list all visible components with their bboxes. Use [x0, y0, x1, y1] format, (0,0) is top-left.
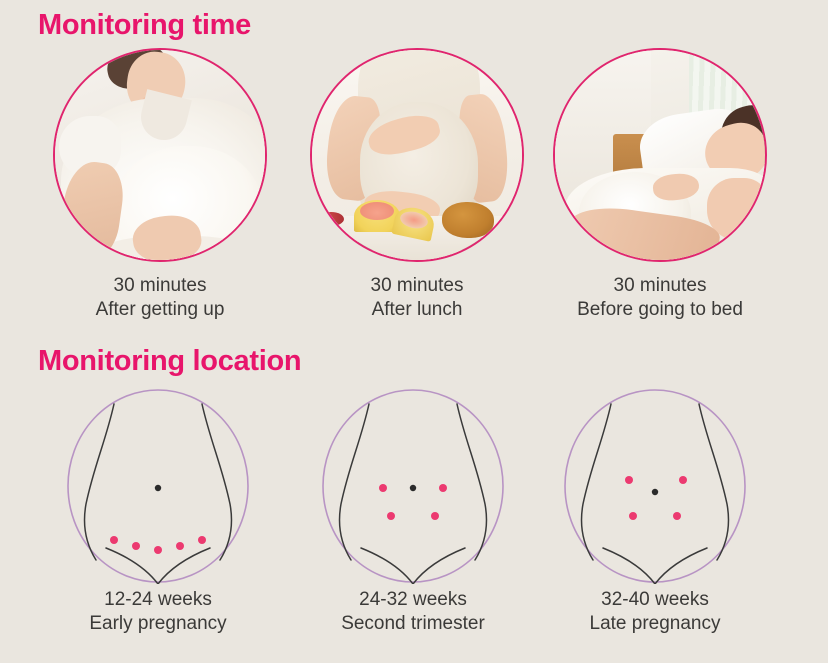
monitoring-location-item-second-trimester: 24-32 weeks Second trimester	[283, 388, 543, 636]
caption-second-trimester: 24-32 weeks Second trimester	[283, 588, 543, 636]
monitoring-location-item-early-pregnancy: 12-24 weeks Early pregnancy	[28, 388, 288, 636]
duration-label: 30 minutes	[614, 275, 707, 296]
diagram-circle-outline	[565, 390, 745, 582]
torso-left-side-line	[339, 404, 369, 560]
stage-label: Late pregnancy	[525, 612, 785, 636]
measurement-dot	[110, 536, 118, 544]
pregnant-woman-seated-photo	[53, 48, 267, 262]
measurement-dot	[679, 476, 687, 484]
measurement-dot	[379, 484, 387, 492]
torso-right-side-line	[457, 404, 487, 560]
torso-right-side-line	[202, 404, 232, 560]
measurement-dot	[439, 484, 447, 492]
torso-left-side-line	[84, 404, 114, 560]
caption-after-lunch: 30 minutes After lunch	[292, 274, 542, 322]
monitoring-location-row: 12-24 weeks Early pregnancy 24-32 weeks …	[0, 388, 828, 658]
caption-before-bed: 30 minutes Before going to bed	[535, 274, 785, 322]
torso-diagram-second-trimester	[295, 388, 531, 584]
measurement-dot	[387, 512, 395, 520]
monitoring-location-item-late-pregnancy: 32-40 weeks Late pregnancy	[525, 388, 785, 636]
measurement-dot	[431, 512, 439, 520]
torso-right-side-line	[699, 404, 729, 560]
monitoring-location-heading: Monitoring location	[38, 345, 301, 378]
navel-marker	[652, 489, 658, 495]
measurement-dot	[176, 542, 184, 550]
monitoring-time-item-before-bed: 30 minutes Before going to bed	[535, 48, 785, 322]
torso-diagram-early-pregnancy	[40, 388, 276, 584]
pregnant-woman-with-food-photo	[310, 48, 524, 262]
infographic-page: Monitoring time	[0, 0, 828, 663]
navel-marker	[155, 485, 161, 491]
pregnant-woman-in-bed-photo	[553, 48, 767, 262]
when-label: After lunch	[292, 298, 542, 322]
duration-label: 30 minutes	[114, 275, 207, 296]
stage-label: Second trimester	[283, 612, 543, 636]
stage-label: Early pregnancy	[28, 612, 288, 636]
weeks-label: 32-40 weeks	[601, 589, 709, 610]
caption-early-pregnancy: 12-24 weeks Early pregnancy	[28, 588, 288, 636]
when-label: Before going to bed	[535, 298, 785, 322]
monitoring-time-heading: Monitoring time	[38, 9, 251, 42]
navel-marker	[410, 485, 416, 491]
monitoring-time-item-after-getting-up: 30 minutes After getting up	[35, 48, 285, 322]
weeks-label: 12-24 weeks	[104, 589, 212, 610]
duration-label: 30 minutes	[371, 275, 464, 296]
measurement-dot	[629, 512, 637, 520]
torso-diagram-late-pregnancy	[537, 388, 773, 584]
caption-late-pregnancy: 32-40 weeks Late pregnancy	[525, 588, 785, 636]
measurement-dot	[625, 476, 633, 484]
when-label: After getting up	[35, 298, 285, 322]
monitoring-time-item-after-lunch: 30 minutes After lunch	[292, 48, 542, 322]
measurement-dot	[198, 536, 206, 544]
caption-after-getting-up: 30 minutes After getting up	[35, 274, 285, 322]
measurement-dot	[673, 512, 681, 520]
measurement-dot	[132, 542, 140, 550]
monitoring-time-row: 30 minutes After getting up	[0, 48, 828, 328]
weeks-label: 24-32 weeks	[359, 589, 467, 610]
measurement-dot	[154, 546, 162, 554]
torso-left-side-line	[581, 404, 611, 560]
